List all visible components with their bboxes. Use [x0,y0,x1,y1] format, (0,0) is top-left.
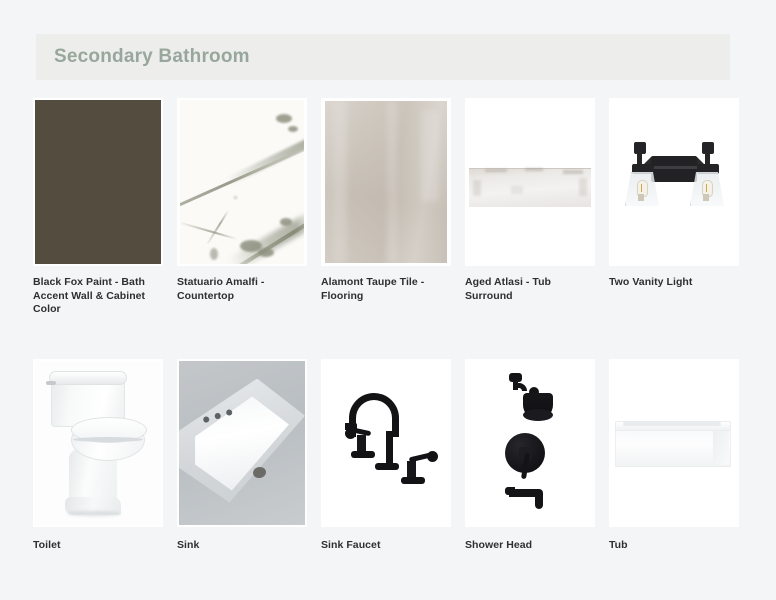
product-label: Two Vanity Light [609,276,735,290]
product-thumbnail[interactable] [33,98,163,266]
product-card-tub[interactable]: Tub [609,359,739,553]
vanity-light-icon [611,100,737,264]
product-thumbnail[interactable] [465,98,595,266]
product-label: Tub [609,539,735,553]
product-label: Shower Head [465,539,591,553]
product-label: Sink Faucet [321,539,447,553]
product-thumbnail[interactable] [177,98,307,266]
product-row: Black Fox Paint - Bath Accent Wall & Cab… [33,98,743,317]
product-thumbnail[interactable] [465,359,595,527]
product-thumbnail[interactable] [177,359,307,527]
product-label: Statuario Amalfi - Countertop [177,276,303,303]
product-card-vanity-light[interactable]: Two Vanity Light [609,98,739,317]
product-label: Toilet [33,539,159,553]
board-header: Secondary Bathroom [36,34,730,80]
product-label: Alamont Taupe Tile - Flooring [321,276,447,303]
marble-slab-icon [180,100,304,264]
product-card-flooring[interactable]: Alamont Taupe Tile - Flooring [321,98,451,317]
page-title: Secondary Bathroom [54,46,250,68]
product-thumbnail[interactable] [609,98,739,266]
alcove-tub-icon [611,361,737,525]
taupe-tile-icon [325,101,447,263]
product-grid: Black Fox Paint - Bath Accent Wall & Cab… [33,98,743,558]
product-thumbnail[interactable] [321,359,451,527]
product-thumbnail[interactable] [33,359,163,527]
product-label: Sink [177,539,303,553]
product-card-toilet[interactable]: Toilet [33,359,163,553]
product-card-paint[interactable]: Black Fox Paint - Bath Accent Wall & Cab… [33,98,163,317]
product-row: Toilet Sink [33,359,743,553]
product-label: Black Fox Paint - Bath Accent Wall & Cab… [33,276,159,317]
product-label: Aged Atlasi - Tub Surround [465,276,591,303]
product-card-countertop[interactable]: Statuario Amalfi - Countertop [177,98,307,317]
paint-swatch-icon [35,100,161,264]
product-card-tub-surround[interactable]: Aged Atlasi - Tub Surround [465,98,595,317]
undermount-sink-icon [179,361,305,525]
shower-trim-icon [467,361,593,525]
product-thumbnail[interactable] [321,98,451,266]
widespread-faucet-icon [323,361,449,525]
toilet-icon [35,361,161,525]
product-card-shower-head[interactable]: Shower Head [465,359,595,553]
product-thumbnail[interactable] [609,359,739,527]
design-board: Secondary Bathroom Black Fox Paint - Bat… [0,0,776,600]
product-card-sink[interactable]: Sink [177,359,307,553]
subway-tile-icon [467,100,593,264]
product-card-sink-faucet[interactable]: Sink Faucet [321,359,451,553]
